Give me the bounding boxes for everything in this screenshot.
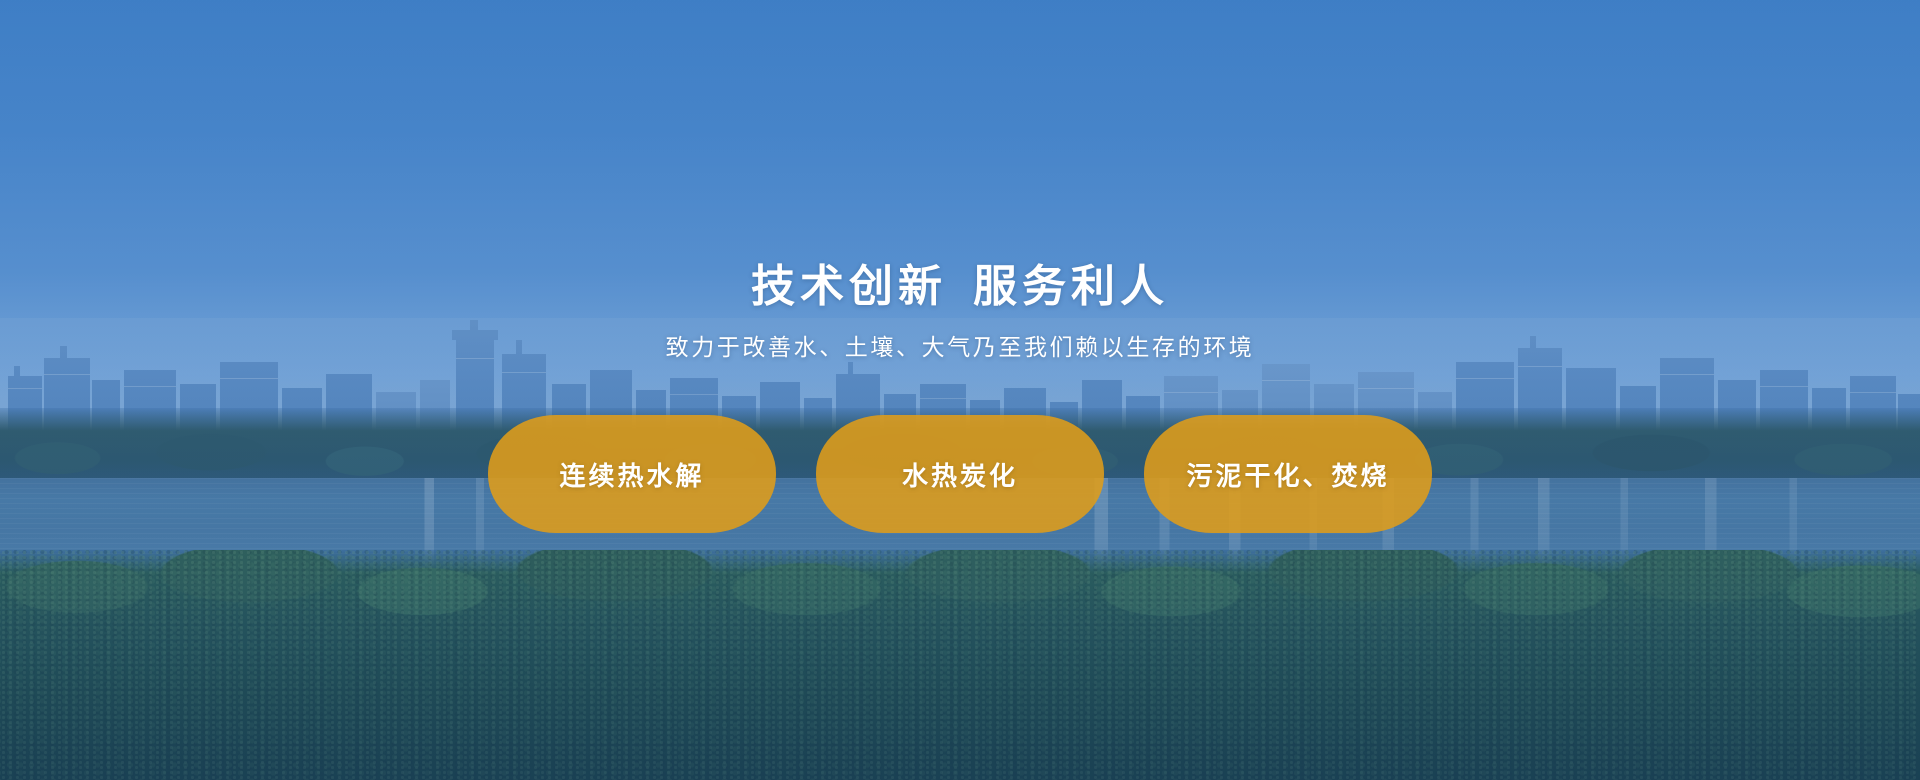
service-button-hydrothermal-carbonization[interactable]: 水热炭化 [816,415,1104,533]
headline-segment-2: 服务利人 [973,262,1169,311]
headline-segment-1: 技术创新 [751,262,947,311]
hero-content: 技术创新服务利人 致力于改善水、土壤、大气乃至我们赖以生存的环境 连续热水解 水… [0,0,1920,780]
hero-subheadline: 致力于改善水、土壤、大气乃至我们赖以生存的环境 [666,336,1255,359]
service-button-continuous-thermal-hydrolysis[interactable]: 连续热水解 [488,415,776,533]
service-button-sludge-drying-incineration[interactable]: 污泥干化、焚烧 [1144,415,1432,533]
hero-banner: 技术创新服务利人 致力于改善水、土壤、大气乃至我们赖以生存的环境 连续热水解 水… [0,0,1920,780]
hero-action-buttons: 连续热水解 水热炭化 污泥干化、焚烧 [488,415,1432,533]
hero-headline: 技术创新服务利人 [751,265,1169,309]
